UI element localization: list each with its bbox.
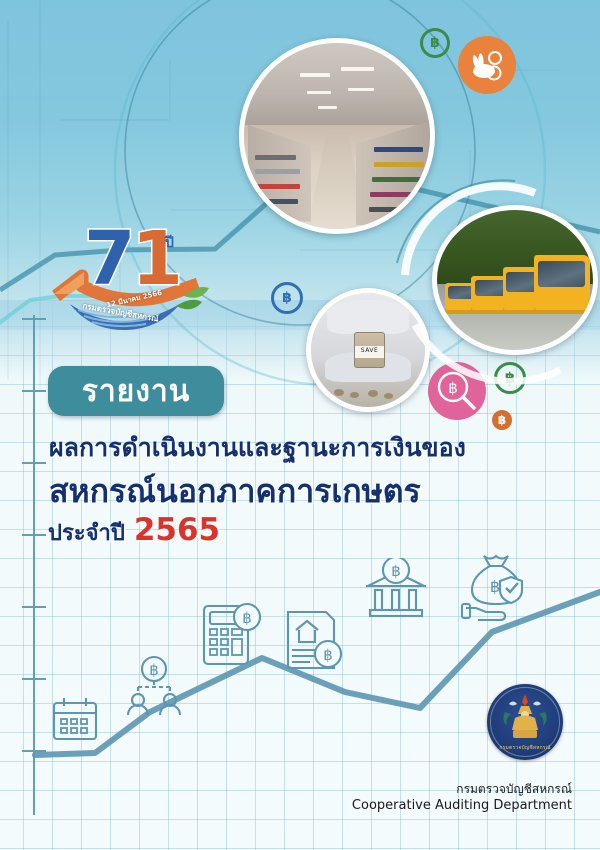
save-jar-label: SAVE — [355, 346, 384, 358]
anniversary-71-logo: 71 ปี 12 มีนาคม 2566 กรมตรวจบัญชีสหกรณ์ — [48, 218, 223, 343]
logo-year-unit: ปี — [165, 232, 174, 254]
rabbit-icon — [458, 36, 516, 94]
axis-tick — [22, 462, 46, 464]
svg-text:฿: ฿ — [323, 646, 333, 664]
department-name-en: Cooperative Auditing Department — [352, 797, 572, 814]
report-badge: รายงาน — [48, 366, 224, 416]
seal-caption: กรมตรวจบัญชีสหกรณ์ — [487, 744, 563, 752]
logo-digit-7: 7 — [84, 216, 132, 302]
swoosh-decoration — [395, 175, 600, 390]
department-name-th: กรมตรวจบัญชีสหกรณ์ — [352, 781, 572, 797]
document-house-baht-icon: ฿ — [282, 608, 348, 674]
footer-department: กรมตรวจบัญชีสหกรณ์ Cooperative Auditing … — [352, 781, 572, 814]
baht-icon-green-top: ฿ — [420, 28, 450, 58]
axis-tick — [22, 318, 46, 320]
people-baht-icon: ฿ — [123, 655, 185, 717]
calculator-baht-icon: ฿ — [200, 600, 262, 668]
svg-text:฿: ฿ — [391, 562, 401, 580]
title-line-1: ผลการดำเนินงานและฐานะการเงินของ — [49, 428, 466, 468]
baht-icon-blue: ฿ — [271, 282, 303, 314]
svg-text:฿: ฿ — [490, 577, 500, 596]
svg-text:฿: ฿ — [149, 661, 159, 679]
report-cover: SAVE ฿ ฿ ฿ ฿ ฿ — [0, 0, 600, 850]
bank-baht-icon: ฿ — [363, 558, 429, 622]
money-bag-shield-hand-icon: ฿ — [460, 552, 532, 622]
axis-tick — [22, 390, 46, 392]
department-seal: กรมตรวจบัญชีสหกรณ์ — [487, 684, 563, 760]
axis-tick — [22, 534, 46, 536]
baht-icon-orange: ฿ — [492, 410, 512, 430]
report-badge-label: รายงาน — [82, 368, 191, 415]
title-line-2: สหกรณ์นอกภาคการเกษตร — [49, 466, 421, 517]
svg-text:฿: ฿ — [242, 609, 252, 627]
calendar-icon — [50, 695, 100, 743]
